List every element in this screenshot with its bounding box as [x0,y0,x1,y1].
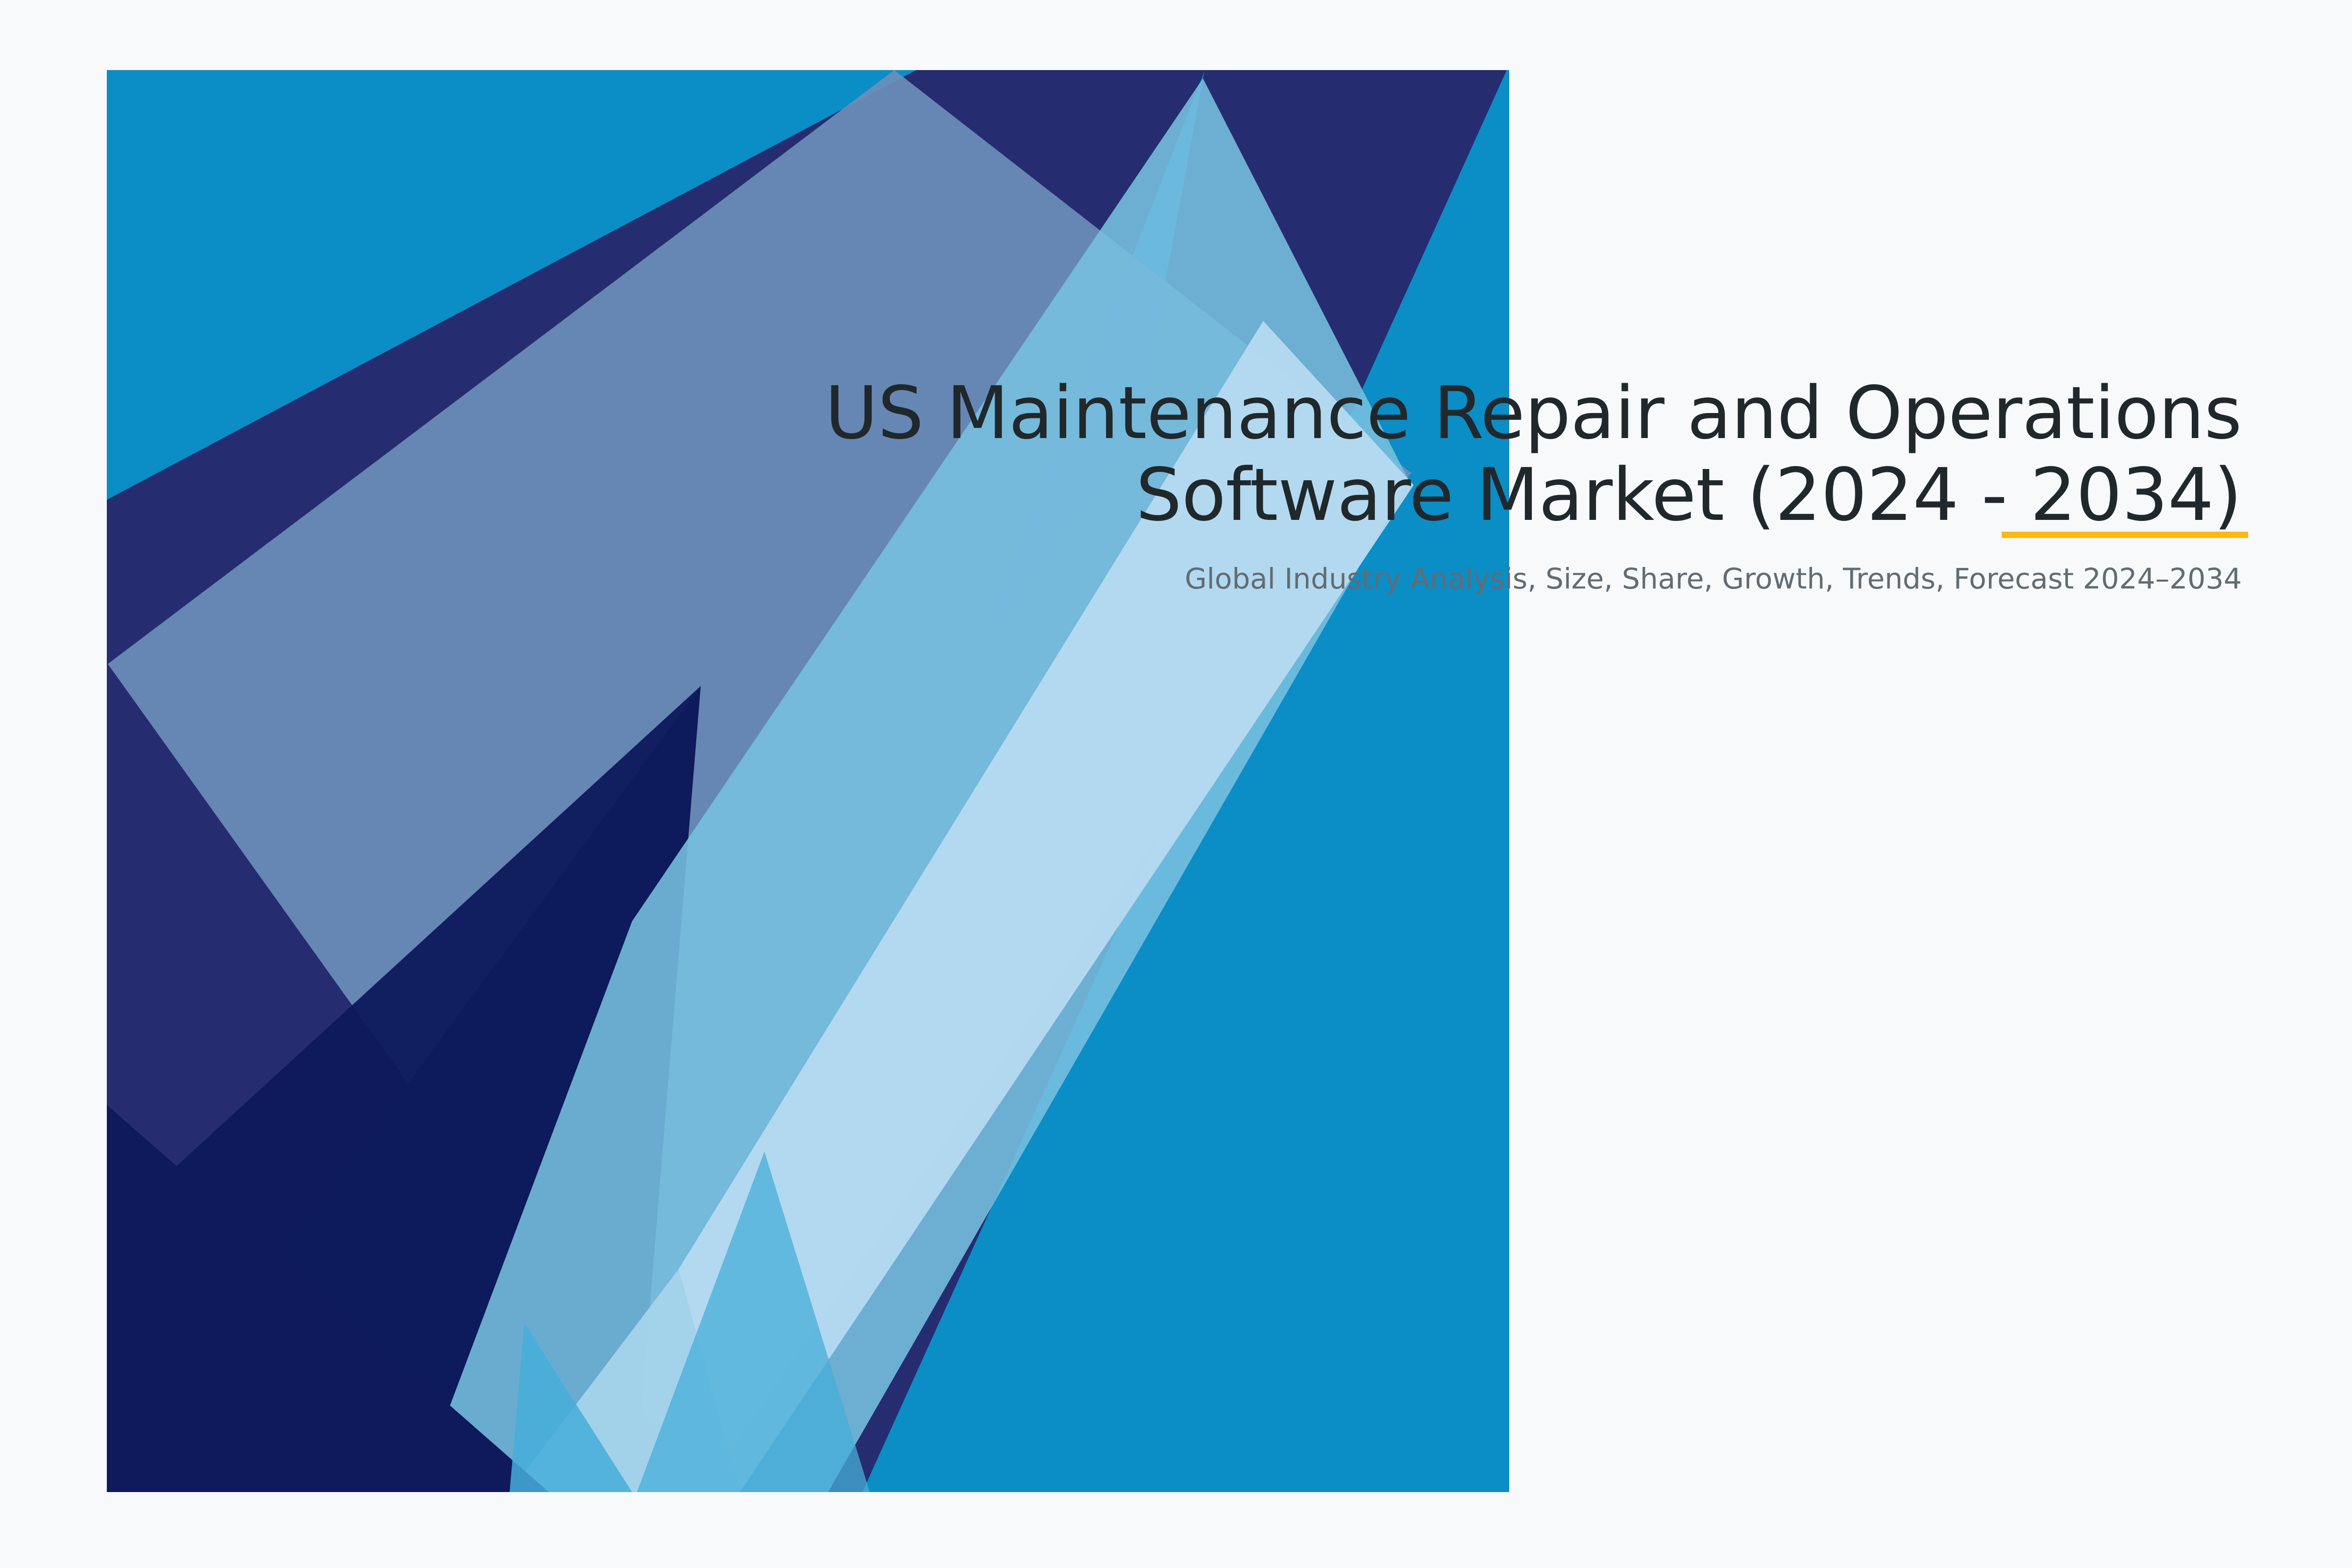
deep-navy-spike [107,686,701,1492]
navy-upper-band [107,70,1507,1492]
abstract-geometric-artwork [0,0,2352,1568]
sky-blue-bottom-notch [510,1323,632,1492]
page-title: US Maintenance Repair and Operations Sof… [784,372,2242,536]
cyan-field [107,70,1509,1492]
page-subtitle: Global Industry Analysis, Size, Share, G… [784,536,2242,597]
artwork-svg [0,0,2352,1568]
navy-top-right-triangle [916,70,1507,419]
deep-navy-corner [107,1105,549,1492]
cover-page: US Maintenance Repair and Operations Sof… [0,0,2352,1568]
cover-text-block: US Maintenance Repair and Operations Sof… [784,372,2242,597]
deep-navy-lower-mass [107,686,701,1492]
title-wrapper: US Maintenance Repair and Operations Sof… [784,372,2242,536]
sky-blue-bottom-notch-right [637,1151,870,1492]
slate-overlay-quad [108,70,1411,1492]
sky-blue-band [417,78,1409,1492]
